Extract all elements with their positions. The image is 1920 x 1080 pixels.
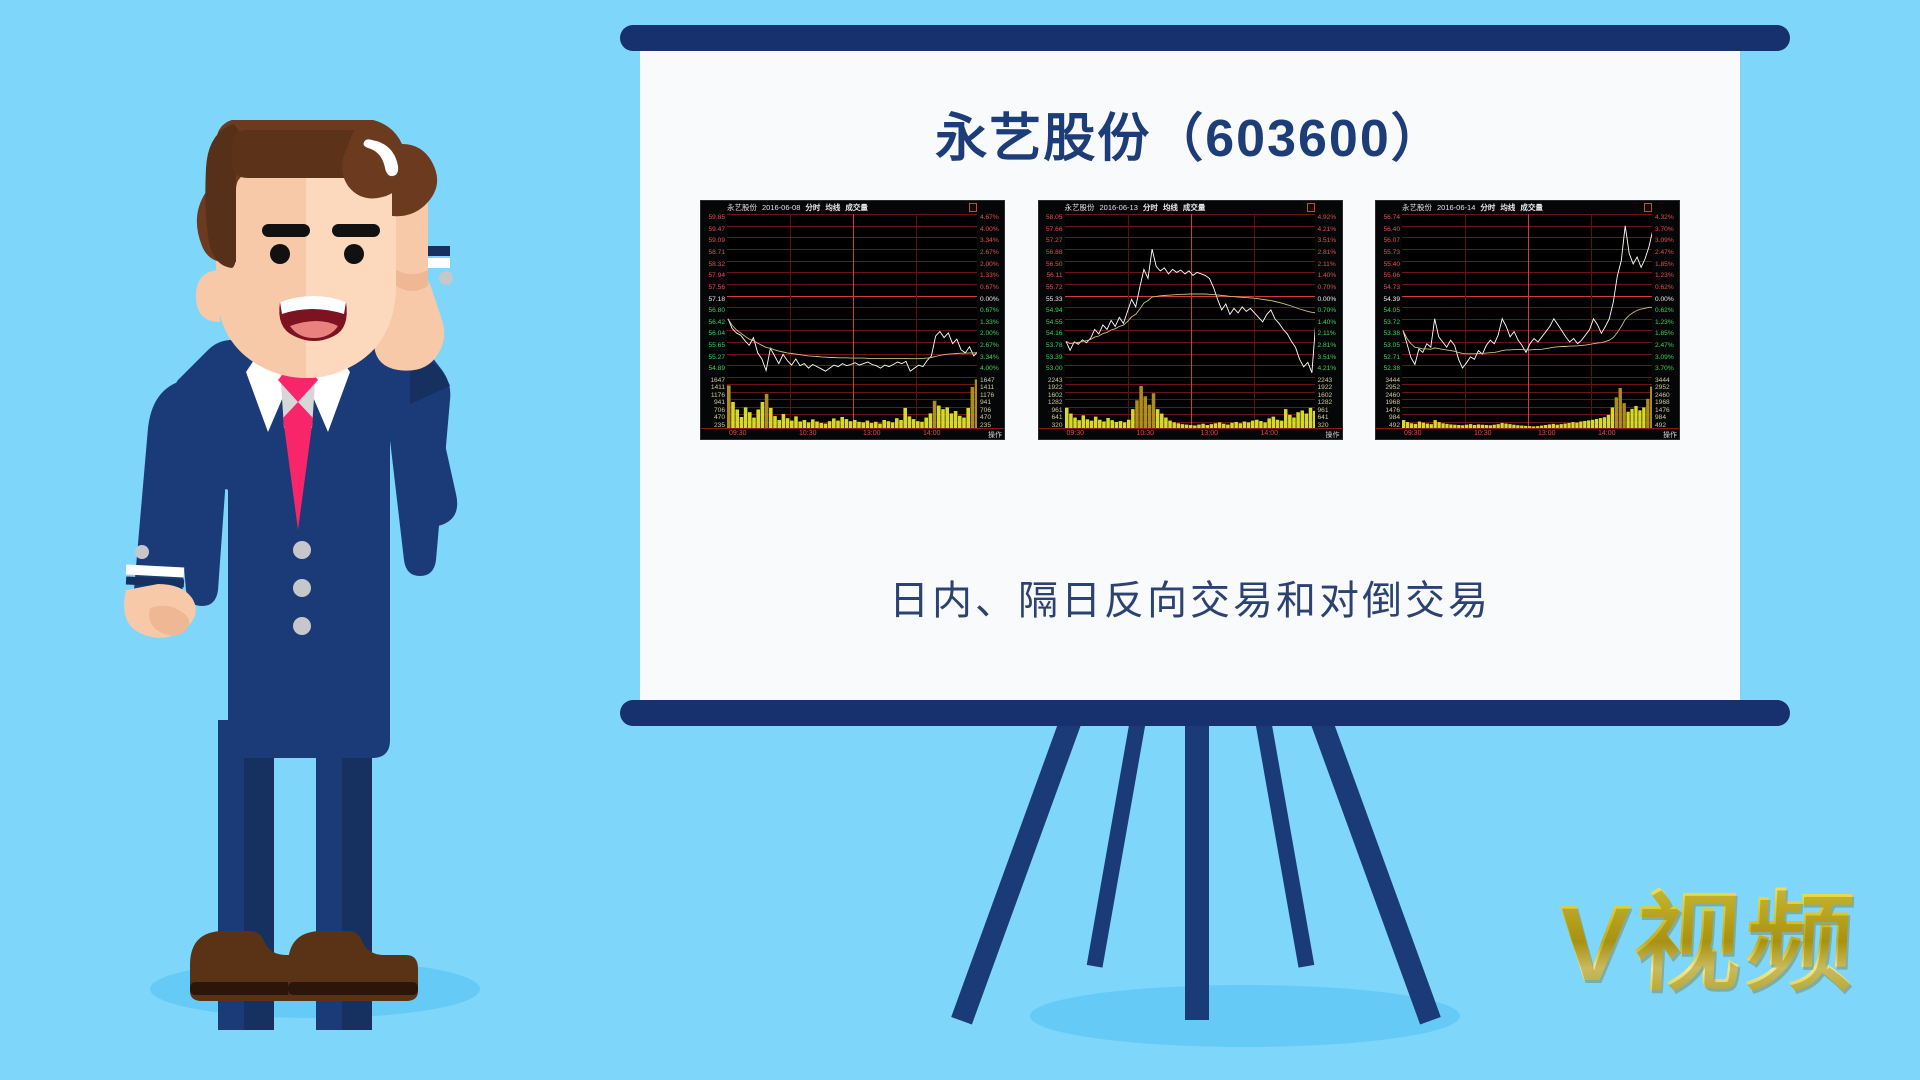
- charts-row: 永艺股份2016-06-08分时均线成交量59.8559.4759.0958.7…: [700, 200, 1680, 440]
- volume-axis-left-tick: 2460: [1385, 392, 1400, 399]
- price-axis-right-tick: 0.62%: [1655, 308, 1674, 315]
- volume-axis-left-tick: 235: [714, 422, 725, 429]
- price-axis-left-tick: 54.89: [708, 366, 725, 373]
- left-arm: [124, 382, 196, 638]
- price-axis-right-tick: 2.00%: [980, 331, 999, 338]
- price-axis-left-tick: 55.65: [708, 343, 725, 350]
- price-axis-right-tick: 2.47%: [1655, 343, 1674, 350]
- volume-bar: [1642, 407, 1645, 429]
- volume-bar: [1069, 414, 1073, 429]
- volume-bar: [756, 409, 760, 429]
- volume-axis-right-tick: 1602: [1318, 392, 1333, 399]
- board-caption: 日内、隔日反向交易和对倒交易: [640, 568, 1740, 626]
- volume-axis-right-tick: 984: [1655, 414, 1666, 421]
- stock-chart-3[interactable]: 永艺股份2016-06-14分时均线成交量56.7456.4056.0755.7…: [1375, 200, 1680, 440]
- volume-bar: [1288, 415, 1292, 429]
- volume-axis-left-tick: 2243: [1048, 377, 1063, 384]
- volume-bar: [1081, 415, 1085, 429]
- easel-bottom-rail: [620, 700, 1790, 726]
- series-均线: [728, 319, 977, 359]
- chart-stock-name: 永艺股份: [727, 202, 757, 213]
- volume-bar: [731, 402, 735, 429]
- volume-axis-right-tick: 941: [980, 399, 991, 406]
- price-axis-right-tick: 4.00%: [980, 227, 999, 234]
- businessman-svg: [120, 120, 540, 1050]
- price-axis-left-tick: 55.73: [1383, 250, 1400, 257]
- price-axis-left-tick: 56.88: [1046, 250, 1063, 257]
- volume-axis-right-tick: 1282: [1318, 399, 1333, 406]
- chart-stock-name: 永艺股份: [1402, 202, 1432, 213]
- price-axis-right-tick: 0.70%: [1318, 285, 1337, 292]
- volume-axis-left-tick: 941: [714, 399, 725, 406]
- volume-bar: [1626, 412, 1629, 429]
- price-axis-right: 4.92%4.21%3.51%2.81%2.11%1.40%0.70%0.00%…: [1316, 214, 1342, 377]
- time-tick: 10:30: [1137, 430, 1155, 437]
- volume-bar: [735, 409, 739, 429]
- volume-bar: [1607, 415, 1610, 429]
- volume-bar: [1634, 406, 1637, 429]
- series-分时价格: [1066, 249, 1315, 373]
- slide-canvas: 永艺股份（603600） 永艺股份2016-06-08分时均线成交量59.855…: [0, 0, 1920, 1080]
- price-axis-right-tick: 4.32%: [1655, 215, 1674, 222]
- chart-indicator-1[interactable]: 分时: [805, 202, 820, 213]
- price-plot: [1402, 214, 1652, 377]
- chart-close-icon[interactable]: [1644, 203, 1652, 212]
- price-axis-left-tick: 56.04: [708, 331, 725, 338]
- easel-leg-right: [1311, 716, 1441, 1024]
- volume-axis-left-tick: 1922: [1048, 384, 1063, 391]
- price-axis-left: 56.7456.4056.0755.7355.4055.0654.7354.39…: [1376, 214, 1402, 377]
- price-axis-right-tick: 2.81%: [1318, 343, 1337, 350]
- price-axis-left-tick: 56.07: [1383, 238, 1400, 245]
- chart-operation-label[interactable]: 操作: [1326, 430, 1340, 440]
- volume-bar: [941, 409, 945, 429]
- volume-plot: [1065, 377, 1315, 429]
- volume-bar: [1304, 414, 1308, 429]
- volume-axis-right-tick: 1411: [980, 384, 994, 391]
- volume-axis-left-tick: 470: [714, 414, 725, 421]
- price-axis-right: 4.67%4.00%3.34%2.67%2.00%1.33%0.67%0.00%…: [978, 214, 1004, 377]
- price-axis-left-tick: 52.38: [1383, 366, 1400, 373]
- chart-indicator-2[interactable]: 均线: [825, 202, 840, 213]
- stock-chart-2[interactable]: 永艺股份2016-06-13分时均线成交量58.0557.6657.2756.8…: [1038, 200, 1343, 440]
- price-axis-left-tick: 54.16: [1046, 331, 1063, 338]
- volume-axis-right-tick: 492: [1655, 422, 1666, 429]
- price-axis-left-tick: 55.06: [1383, 273, 1400, 280]
- price-axis-left-tick: 55.72: [1046, 285, 1063, 292]
- volume-axis-left-tick: 1282: [1048, 399, 1063, 406]
- volume-bar: [975, 379, 977, 429]
- presentation-board: 永艺股份（603600） 永艺股份2016-06-08分时均线成交量59.855…: [640, 48, 1740, 703]
- volume-axis-right-tick: 2460: [1655, 392, 1670, 399]
- price-axis-left-tick: 54.73: [1383, 285, 1400, 292]
- volume-axis-right-tick: 1647: [980, 377, 995, 384]
- volume-bar: [727, 385, 731, 429]
- easel-leg-back-left: [1087, 719, 1146, 968]
- volume-bar: [1308, 408, 1312, 429]
- chart-indicator-1[interactable]: 分时: [1143, 202, 1158, 213]
- volume-axis-left-tick: 1176: [711, 392, 725, 399]
- volume-bar: [1283, 409, 1287, 429]
- price-axis-right-tick: 2.47%: [1655, 250, 1674, 257]
- time-tick: 13:00: [1201, 430, 1219, 437]
- volume-axis-right-tick: 320: [1318, 422, 1329, 429]
- easel-top-rail: [620, 25, 1790, 51]
- price-axis-right-tick: 0.00%: [1655, 297, 1674, 304]
- price-axis-left-tick: 52.71: [1383, 355, 1400, 362]
- time-tick: 14:00: [1598, 430, 1616, 437]
- price-axis-right-tick: 2.11%: [1318, 331, 1336, 338]
- price-axis-left-tick: 53.05: [1383, 343, 1400, 350]
- price-series-svg: [727, 214, 977, 377]
- price-axis-right-tick: 4.92%: [1318, 215, 1337, 222]
- volume-bar: [1065, 408, 1069, 429]
- chart-header: 永艺股份2016-06-08分时均线成交量: [701, 201, 1004, 214]
- chart-operation-label[interactable]: 操作: [1663, 430, 1677, 440]
- time-tick: 10:30: [1474, 430, 1492, 437]
- chart-header: 永艺股份2016-06-13分时均线成交量: [1039, 201, 1342, 214]
- volume-bar: [1638, 410, 1641, 429]
- price-axis-right-tick: 3.09%: [1655, 238, 1674, 245]
- volume-axis-left: 164714111176941706470235: [701, 377, 727, 429]
- volume-axis-left-tick: 320: [1051, 422, 1062, 429]
- price-axis-left-tick: 54.05: [1383, 308, 1400, 315]
- price-axis-right-tick: 0.00%: [980, 297, 999, 304]
- price-axis-right-tick: 2.67%: [980, 343, 999, 350]
- volume-bar: [937, 406, 941, 429]
- volume-bar: [769, 408, 773, 429]
- volume-bar: [1139, 386, 1143, 429]
- chart-indicator-3[interactable]: 成交量: [1520, 202, 1543, 213]
- volume-axis-right-tick: 1968: [1655, 399, 1670, 406]
- eyebrow-right: [332, 224, 380, 237]
- time-tick: 10:30: [799, 430, 817, 437]
- easel-leg-left: [951, 716, 1081, 1024]
- price-axis-right: 4.32%3.70%3.09%2.47%1.85%1.23%0.62%0.00%…: [1653, 214, 1679, 377]
- easel-leg-back-right: [1255, 719, 1314, 968]
- volume-axis-left-tick: 2952: [1385, 384, 1400, 391]
- volume-bar: [945, 407, 949, 429]
- price-axis-left-tick: 56.80: [708, 308, 725, 315]
- jacket-buttons: [293, 541, 311, 635]
- volume-bar: [966, 408, 970, 429]
- price-axis-left-tick: 57.56: [708, 285, 725, 292]
- volume-axis-left-tick: 492: [1389, 422, 1400, 429]
- volume-axis-right-tick: 961: [1318, 407, 1329, 414]
- volume-bar: [929, 413, 933, 429]
- price-axis-right-tick: 0.67%: [980, 285, 999, 292]
- volume-bar: [1296, 412, 1300, 429]
- price-axis-right-tick: 2.00%: [980, 262, 999, 269]
- time-tick: 09:30: [729, 430, 747, 437]
- volume-axis-right-tick: 2952: [1655, 384, 1670, 391]
- volume-bar: [1646, 399, 1649, 429]
- chart-time-axis: 09:3010:3013:0014:00操作: [1376, 428, 1679, 439]
- businessman-illustration: [120, 120, 540, 1050]
- chart-time-axis: 09:3010:3013:0014:00操作: [701, 428, 1004, 439]
- eye-right: [344, 244, 364, 264]
- price-axis-left-tick: 55.40: [1383, 262, 1400, 269]
- volume-bar: [971, 387, 975, 429]
- volume-series-svg: [727, 377, 977, 429]
- chart-date: 2016-06-08: [762, 203, 800, 212]
- price-axis-left-tick: 57.27: [1046, 238, 1063, 245]
- volume-axis-right-tick: 1476: [1655, 407, 1670, 414]
- price-axis-left-tick: 59.09: [708, 238, 725, 245]
- price-axis-left-tick: 56.40: [1383, 227, 1400, 234]
- price-series-svg: [1402, 214, 1652, 377]
- time-tick: 09:30: [1404, 430, 1422, 437]
- easel-ground-shadow: [1030, 985, 1460, 1047]
- volume-bar: [933, 401, 937, 429]
- volume-plot: [1402, 377, 1652, 429]
- volume-axis-left-tick: 3444: [1385, 377, 1400, 384]
- time-tick: 14:00: [923, 430, 941, 437]
- volume-bar: [1611, 407, 1614, 429]
- volume-bar: [1300, 410, 1304, 429]
- volume-bar: [1160, 414, 1164, 429]
- price-axis-right-tick: 0.67%: [980, 308, 999, 315]
- volume-series-svg: [1402, 377, 1652, 429]
- price-axis-right-tick: 0.00%: [1318, 297, 1337, 304]
- price-axis-left-tick: 53.72: [1383, 320, 1400, 327]
- price-axis-left-tick: 54.94: [1046, 308, 1063, 315]
- volume-bar: [1147, 405, 1151, 429]
- volume-axis-right: 2243192216021282961641320: [1316, 377, 1342, 429]
- price-axis-right-tick: 1.23%: [1655, 273, 1674, 280]
- price-axis-right-tick: 1.40%: [1318, 320, 1337, 327]
- volume-bar: [1312, 411, 1314, 429]
- price-axis-left-tick: 56.11: [1046, 273, 1062, 280]
- volume-plot: [727, 377, 977, 429]
- volume-series-svg: [1065, 377, 1315, 429]
- volume-bar: [1630, 409, 1633, 429]
- price-axis-right-tick: 2.11%: [1318, 262, 1336, 269]
- price-axis-left-tick: 57.18: [708, 297, 725, 304]
- volume-axis-left-tick: 1411: [711, 384, 725, 391]
- watermark-logo: V视频: [1554, 856, 1862, 1012]
- price-plot: [1065, 214, 1315, 377]
- volume-axis-right-tick: 706: [980, 407, 991, 414]
- price-axis-left-tick: 57.94: [708, 273, 725, 280]
- chart-indicator-3[interactable]: 成交量: [1183, 202, 1206, 213]
- price-axis-right-tick: 2.67%: [980, 250, 999, 257]
- price-axis-right-tick: 4.21%: [1318, 227, 1337, 234]
- eye-left: [270, 244, 290, 264]
- series-分时价格: [728, 319, 977, 372]
- series-分时价格: [1403, 226, 1652, 368]
- price-axis-left-tick: 59.47: [708, 227, 725, 234]
- volume-bar: [1131, 409, 1135, 429]
- price-axis-left-tick: 56.74: [1383, 215, 1400, 222]
- price-axis-right-tick: 1.85%: [1655, 262, 1674, 269]
- price-axis-left-tick: 54.39: [1383, 297, 1400, 304]
- volume-axis-left-tick: 1602: [1048, 392, 1063, 399]
- volume-axis-right-tick: 641: [1318, 414, 1329, 421]
- time-tick: 13:00: [863, 430, 881, 437]
- price-axis-left-tick: 57.66: [1046, 227, 1063, 234]
- chart-date: 2016-06-13: [1100, 203, 1138, 212]
- volume-axis-left-tick: 961: [1051, 407, 1062, 414]
- price-axis-right-tick: 3.34%: [980, 355, 999, 362]
- price-axis-left: 58.0557.6657.2756.8856.5056.1155.7255.33…: [1039, 214, 1065, 377]
- volume-axis-left-tick: 984: [1389, 414, 1400, 421]
- volume-axis-left-tick: 706: [714, 407, 725, 414]
- price-axis-right-tick: 3.70%: [1655, 227, 1674, 234]
- price-axis-right-tick: 4.00%: [980, 366, 999, 373]
- volume-bar: [748, 412, 752, 429]
- series-均线: [1066, 294, 1315, 344]
- chart-operation-label[interactable]: 操作: [988, 430, 1002, 440]
- volume-bar: [958, 416, 962, 429]
- volume-axis-left-tick: 641: [1051, 414, 1062, 421]
- volume-axis-right-tick: 235: [980, 422, 991, 429]
- volume-axis-right-tick: 470: [980, 414, 991, 421]
- chart-indicator-3[interactable]: 成交量: [845, 202, 868, 213]
- chart-close-icon[interactable]: [969, 203, 977, 212]
- price-axis-right-tick: 2.81%: [1318, 250, 1337, 257]
- price-axis-left-tick: 53.78: [1046, 343, 1063, 350]
- price-plot: [727, 214, 977, 377]
- price-axis-right-tick: 0.70%: [1318, 308, 1337, 315]
- chart-header: 永艺股份2016-06-14分时均线成交量: [1376, 201, 1679, 214]
- time-tick: 13:00: [1538, 430, 1556, 437]
- volume-bar: [782, 414, 786, 429]
- series-均线: [1403, 307, 1652, 354]
- shoes: [190, 931, 418, 1001]
- price-axis-right-tick: 0.62%: [1655, 285, 1674, 292]
- volume-axis-right-tick: 3444: [1655, 377, 1670, 384]
- price-axis-left-tick: 54.55: [1046, 320, 1063, 327]
- price-axis-left-tick: 56.42: [708, 320, 725, 327]
- price-axis-right-tick: 3.09%: [1655, 355, 1674, 362]
- price-axis-left-tick: 58.71: [708, 250, 725, 257]
- price-axis-right-tick: 3.34%: [980, 238, 999, 245]
- price-axis-left-tick: 58.32: [708, 262, 725, 269]
- price-axis-right-tick: 3.70%: [1655, 366, 1674, 373]
- volume-bar: [950, 413, 954, 429]
- price-axis-right-tick: 1.23%: [1655, 320, 1674, 327]
- price-axis-right-tick: 3.51%: [1318, 355, 1337, 362]
- easel-leg-center: [1185, 720, 1209, 1020]
- price-axis-right-tick: 1.33%: [980, 273, 999, 280]
- price-axis-left-tick: 53.39: [1046, 355, 1063, 362]
- volume-axis-left-tick: 1968: [1385, 399, 1400, 406]
- volume-bar: [1155, 409, 1159, 429]
- price-axis-right-tick: 3.51%: [1318, 238, 1337, 245]
- volume-bar: [1615, 397, 1618, 429]
- price-axis-left-tick: 59.85: [708, 215, 725, 222]
- chart-close-icon[interactable]: [1307, 203, 1315, 212]
- price-axis-right-tick: 4.67%: [980, 215, 999, 222]
- volume-bar: [744, 407, 748, 429]
- price-axis-left-tick: 53.00: [1046, 366, 1063, 373]
- price-axis-right-tick: 1.33%: [980, 320, 999, 327]
- chart-indicator-2[interactable]: 均线: [1163, 202, 1178, 213]
- volume-axis-right-tick: 2243: [1318, 377, 1333, 384]
- volume-axis-left-tick: 1476: [1385, 407, 1400, 414]
- volume-axis-left-tick: 1647: [710, 377, 725, 384]
- volume-bar: [954, 411, 958, 429]
- price-series-svg: [1065, 214, 1315, 377]
- volume-bar: [761, 402, 765, 429]
- price-axis-right-tick: 1.85%: [1655, 331, 1674, 338]
- volume-axis-right-tick: 1922: [1318, 384, 1333, 391]
- volume-axis-left: 34442952246019681476984492: [1376, 377, 1402, 429]
- volume-bar: [1619, 388, 1622, 429]
- price-axis-right-tick: 4.21%: [1318, 366, 1337, 373]
- volume-bar: [1151, 393, 1155, 429]
- volume-axis-right: 164714111176941706470235: [978, 377, 1004, 429]
- volume-bar: [1650, 387, 1652, 429]
- stock-chart-1[interactable]: 永艺股份2016-06-08分时均线成交量59.8559.4759.0958.7…: [700, 200, 1005, 440]
- chart-stock-name: 永艺股份: [1065, 202, 1095, 213]
- volume-axis-right-tick: 1176: [980, 392, 994, 399]
- price-axis-left-tick: 55.33: [1046, 297, 1063, 304]
- price-axis-left: 59.8559.4759.0958.7158.3257.9457.5657.18…: [701, 214, 727, 377]
- volume-bar: [1143, 396, 1147, 429]
- page-title: 永艺股份（603600）: [640, 96, 1740, 171]
- price-axis-left-tick: 56.50: [1046, 262, 1063, 269]
- volume-bar: [903, 408, 907, 429]
- chart-indicator-2[interactable]: 均线: [1500, 202, 1515, 213]
- volume-bar: [765, 394, 769, 429]
- price-axis-left-tick: 58.05: [1046, 215, 1063, 222]
- price-axis-left-tick: 53.38: [1383, 331, 1400, 338]
- time-tick: 09:30: [1067, 430, 1085, 437]
- volume-axis-left: 2243192216021282961641320: [1039, 377, 1065, 429]
- chart-time-axis: 09:3010:3013:0014:00操作: [1039, 428, 1342, 439]
- chart-indicator-1[interactable]: 分时: [1480, 202, 1495, 213]
- price-axis-left-tick: 55.27: [708, 355, 725, 362]
- volume-axis-right: 34442952246019681476984492: [1653, 377, 1679, 429]
- time-tick: 14:00: [1261, 430, 1279, 437]
- volume-bar: [1135, 400, 1139, 429]
- eyebrow-left: [262, 224, 310, 237]
- price-axis-right-tick: 1.40%: [1318, 273, 1337, 280]
- volume-bar: [1623, 403, 1626, 429]
- chart-date: 2016-06-14: [1437, 203, 1475, 212]
